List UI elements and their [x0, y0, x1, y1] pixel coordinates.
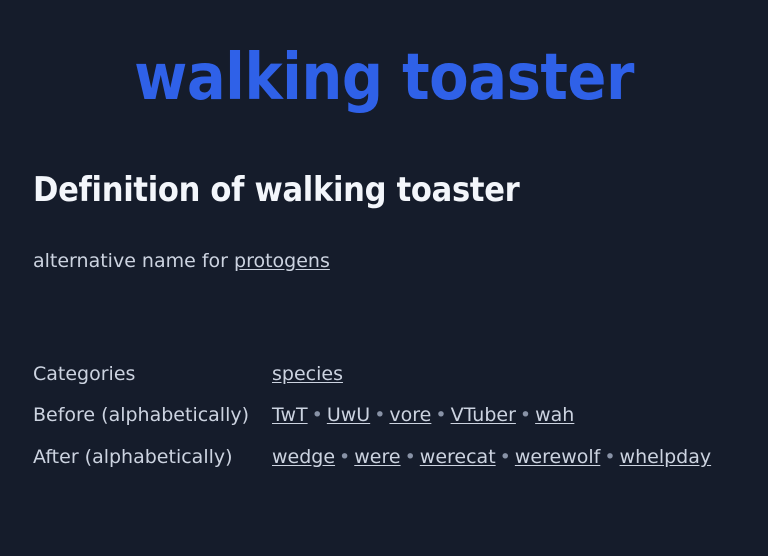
link-separator: •: [496, 446, 515, 468]
row-label-categories: Categories: [33, 362, 272, 404]
row-value-after: wedge•were•werecat•werewolf•whelpday: [272, 445, 735, 487]
table-row: Categories species: [33, 362, 735, 404]
row-label-before: Before (alphabetically): [33, 403, 272, 445]
term-link-wedge[interactable]: wedge: [272, 446, 335, 468]
term-link-vtuber[interactable]: VTuber: [451, 404, 516, 426]
info-table: Categories species Before (alphabeticall…: [33, 362, 735, 487]
row-value-before: TwT•UwU•vore•VTuber•wah: [272, 403, 735, 445]
term-link-whelpday[interactable]: whelpday: [620, 446, 712, 468]
term-link-vore[interactable]: vore: [389, 404, 431, 426]
term-link-uwu[interactable]: UwU: [327, 404, 370, 426]
row-label-after: After (alphabetically): [33, 445, 272, 487]
table-row: Before (alphabetically) TwT•UwU•vore•VTu…: [33, 403, 735, 445]
link-separator: •: [335, 446, 354, 468]
definition-body: alternative name for protogens: [33, 210, 735, 275]
term-link-werewolf[interactable]: werewolf: [515, 446, 600, 468]
definition-body-text: alternative name for: [33, 250, 234, 272]
row-value-categories: species: [272, 362, 735, 404]
term-link-species[interactable]: species: [272, 363, 343, 385]
definition-link-protogens[interactable]: protogens: [234, 250, 330, 272]
link-separator: •: [431, 404, 450, 426]
definition-heading: Definition of walking toaster: [33, 110, 735, 210]
page-root: walking toaster Definition of walking to…: [0, 0, 768, 556]
content-area: Definition of walking toaster alternativ…: [0, 110, 768, 487]
link-separator: •: [401, 446, 420, 468]
term-link-twt[interactable]: TwT: [272, 404, 308, 426]
term-link-werecat[interactable]: werecat: [420, 446, 496, 468]
table-row: After (alphabetically) wedge•were•wereca…: [33, 445, 735, 487]
link-separator: •: [516, 404, 535, 426]
page-title: walking toaster: [0, 0, 768, 110]
link-separator: •: [308, 404, 327, 426]
term-link-were[interactable]: were: [354, 446, 400, 468]
link-separator: •: [600, 446, 619, 468]
term-link-wah[interactable]: wah: [535, 404, 574, 426]
link-separator: •: [370, 404, 389, 426]
info-table-body: Categories species Before (alphabeticall…: [33, 362, 735, 487]
